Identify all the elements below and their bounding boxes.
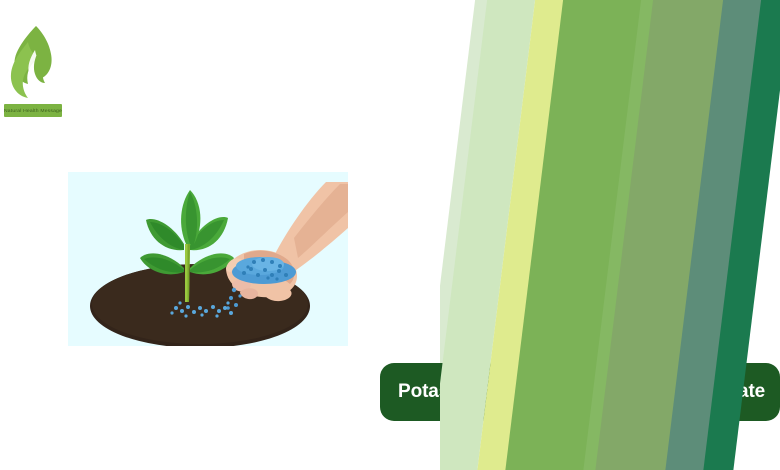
screenshot-canvas: Natural Health Message <box>0 0 780 470</box>
logo-wordmark-text: Natural Health Message <box>4 108 62 113</box>
site-logo[interactable]: Natural Health Message <box>4 24 64 124</box>
leaf-flame-icon <box>6 24 58 102</box>
logo-wordmark: Natural Health Message <box>4 104 62 117</box>
illustration-svg <box>68 172 348 346</box>
decorative-green-stripe-band <box>440 0 780 470</box>
hand-fertilizing-seedling-illustration <box>68 172 348 346</box>
